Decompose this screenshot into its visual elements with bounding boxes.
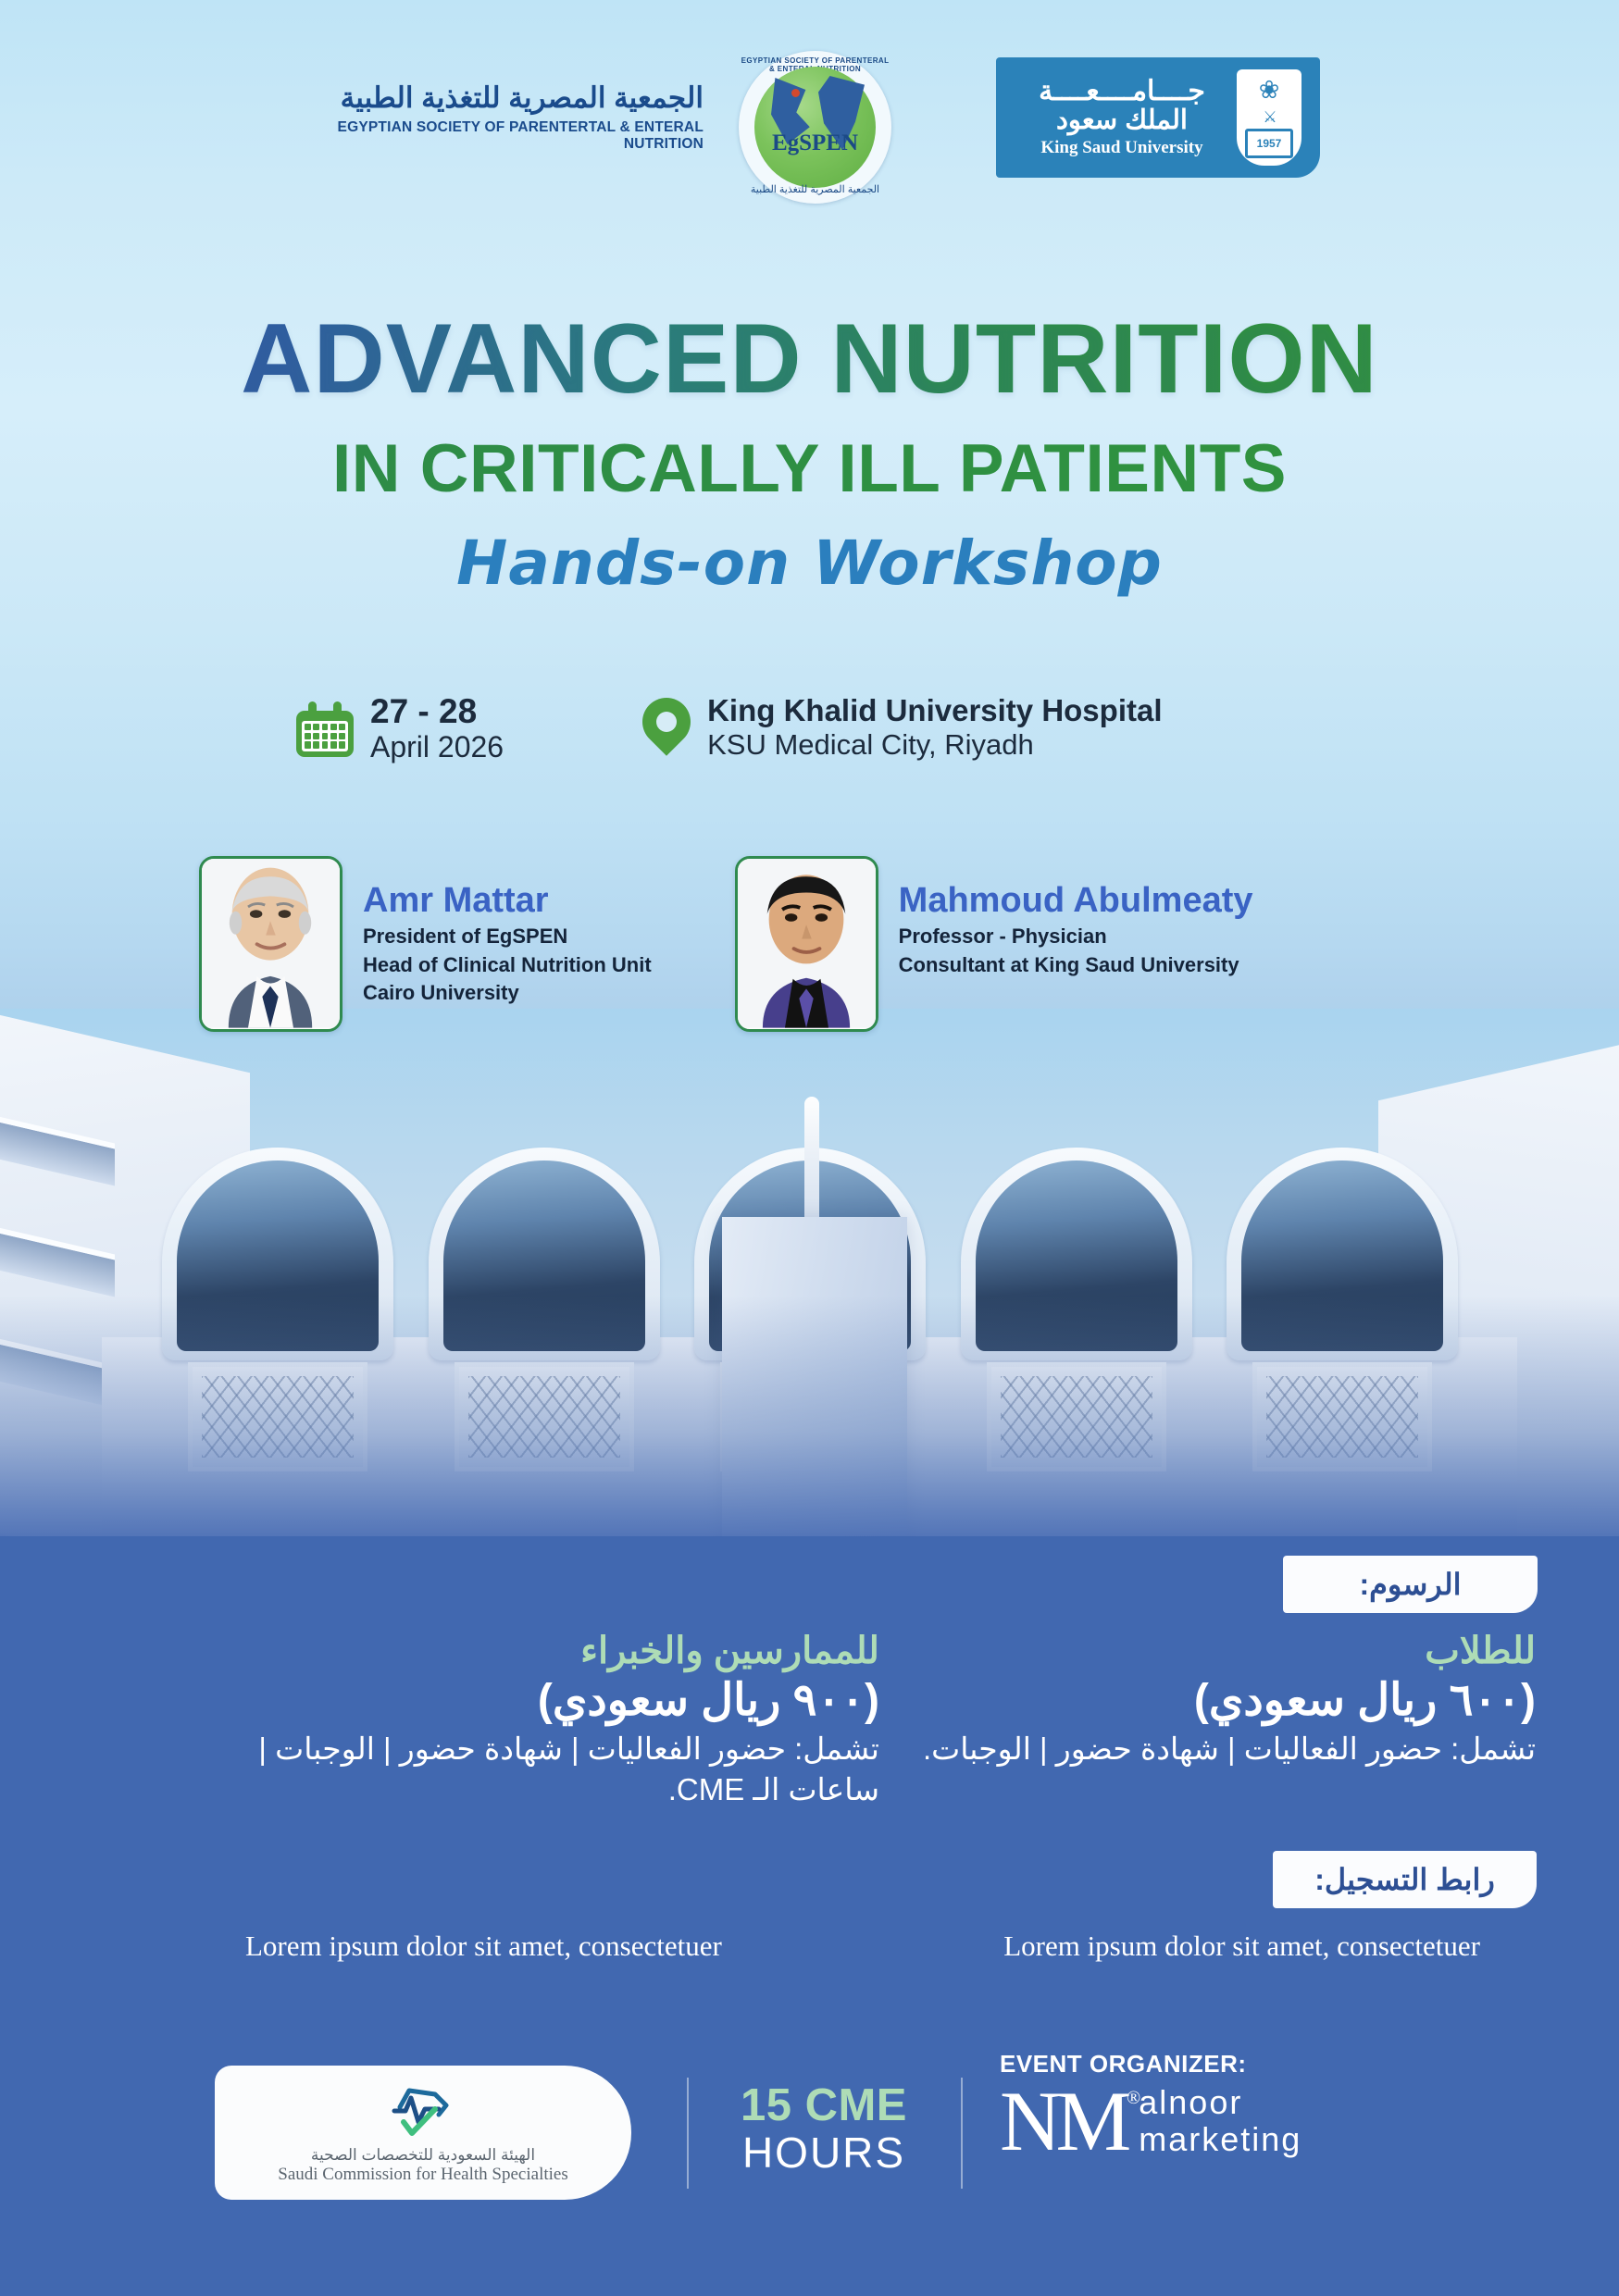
cme-credit-unit: HOURS xyxy=(704,2129,944,2177)
fees-practitioners-heading: للممارسين والخبراء xyxy=(231,1629,879,1673)
speaker-card: Mahmoud Abulmeaty Professor - Physician … xyxy=(735,856,1253,1032)
hospital-building-illustration xyxy=(0,1009,1619,1601)
speaker-photo xyxy=(199,856,342,1032)
venue-address: KSU Medical City, Riyadh xyxy=(707,727,1162,762)
registered-trademark-icon: ® xyxy=(1127,2091,1140,2105)
ksu-english-name: King Saud University xyxy=(1015,138,1229,158)
event-date-month: April 2026 xyxy=(370,730,504,764)
building-spire xyxy=(804,1097,819,1222)
location-pin-icon xyxy=(642,698,691,759)
calendar-icon xyxy=(296,701,354,757)
poster-title-secondary: IN CRITICALLY ILL PATIENTS xyxy=(0,430,1619,507)
fees-practitioners-includes: تشمل: حضور الفعاليات | شهادة حضور | الوج… xyxy=(231,1729,879,1809)
egspen-arabic-name: الجمعية المصرية للتغذية الطبية xyxy=(278,81,704,115)
speaker-portrait-icon xyxy=(202,859,340,1028)
poster-title-primary: ADVANCED NUTRITION xyxy=(0,301,1619,416)
event-poster: الجمعية المصرية للتغذية الطبية EGYPTIAN … xyxy=(0,0,1619,2296)
fees-badge: الرسوم: xyxy=(1283,1556,1538,1613)
event-venue-block: King Khalid University Hospital KSU Medi… xyxy=(642,694,1162,762)
registration-link-left[interactable]: Lorem ipsum dolor sit amet, consectetuer xyxy=(245,1930,722,1963)
speaker-card: Amr Mattar President of EgSPEN Head of C… xyxy=(199,856,652,1032)
footer-divider-right xyxy=(961,2078,963,2189)
fees-students-includes: تشمل: حضور الفعاليات | شهادة حضور | الوج… xyxy=(906,1729,1536,1769)
egspen-english-name: EGYPTIAN SOCIETY OF PARENTERTAL & ENTERA… xyxy=(278,119,704,153)
egspen-wordmark: الجمعية المصرية للتغذية الطبية EGYPTIAN … xyxy=(278,81,704,153)
organizer-name: alnoor marketing xyxy=(1139,2084,1301,2159)
egspen-logo-arabic: الجمعية المصرية للتغذية الطبية xyxy=(739,183,891,195)
event-date-block: 27 - 28 April 2026 xyxy=(296,694,504,764)
fees-section: للطلاب (٦٠٠ ريال سعودي) تشمل: حضور الفعا… xyxy=(0,1629,1619,1869)
venue-name: King Khalid University Hospital xyxy=(707,694,1162,727)
ksu-shield-year: 1957 xyxy=(1245,129,1293,158)
scfhs-pulse-icon xyxy=(381,2081,465,2142)
ksu-arabic-line1: جــــامــــعــــة xyxy=(1015,77,1229,106)
scfhs-english-name: Saudi Commission for Health Specialties xyxy=(278,2165,567,2185)
registration-link-right[interactable]: Lorem ipsum dolor sit amet, consectetuer xyxy=(1003,1930,1480,1963)
scfhs-logo-icon xyxy=(381,2081,465,2142)
speaker-name: Amr Mattar xyxy=(363,882,652,921)
egspen-logo-icon: EGYPTIAN SOCIETY OF PARENTERAL & ENTERAL… xyxy=(739,51,891,204)
speaker-role-line2: Head of Clinical Nutrition Unit xyxy=(363,952,652,978)
event-meta-row: 27 - 28 April 2026 King Khalid Universit… xyxy=(296,694,1361,764)
cme-hours-block: 15 CME HOURS xyxy=(704,2082,944,2177)
organizer-name-line2: marketing xyxy=(1139,2121,1301,2158)
scfhs-arabic-name: الهيئة السعودية للتخصصات الصحية xyxy=(311,2146,535,2165)
speaker-name: Mahmoud Abulmeaty xyxy=(899,882,1253,921)
cme-credit-value: 15 CME xyxy=(704,2082,944,2129)
fees-students-column: للطلاب (٦٠٠ ريال سعودي) تشمل: حضور الفعا… xyxy=(906,1629,1536,1769)
speaker-portrait-icon xyxy=(738,859,876,1028)
crossed-swords-icon: ⚔ xyxy=(1263,108,1275,127)
scfhs-badge: الهيئة السعودية للتخصصات الصحية Saudi Co… xyxy=(215,2066,631,2200)
event-date-day: 27 - 28 xyxy=(370,694,504,730)
speaker-role-line2: Consultant at King Saud University xyxy=(899,952,1253,978)
fees-students-price: (٦٠٠ ريال سعودي) xyxy=(906,1673,1536,1729)
footer-divider-left xyxy=(687,2078,689,2189)
organizer-monogram-text: NM xyxy=(1000,2074,1126,2168)
fees-students-heading: للطلاب xyxy=(906,1629,1536,1673)
speakers-row: Amr Mattar President of EgSPEN Head of C… xyxy=(199,856,1430,1032)
fees-practitioners-column: للممارسين والخبراء (٩٠٠ ريال سعودي) تشمل… xyxy=(231,1629,879,1809)
speaker-role-line1: President of EgSPEN xyxy=(363,924,652,949)
egspen-logo-text: EgSPEN xyxy=(739,130,891,156)
organizer-monogram-icon: NM ® xyxy=(1000,2087,1126,2156)
ksu-arabic-line2: الملك سعود xyxy=(1015,106,1229,136)
event-organizer-block: EVENT ORGANIZER: NM ® alnoor marketing xyxy=(1000,2050,1426,2159)
speaker-photo xyxy=(735,856,878,1032)
registration-link-badge[interactable]: رابط التسجيل: xyxy=(1273,1851,1537,1908)
organizer-logo: NM ® alnoor marketing xyxy=(1000,2084,1426,2159)
speaker-role-line3: Cairo University xyxy=(363,980,652,1006)
poster-title-subtitle: Hands-on Workshop xyxy=(0,527,1619,599)
palm-tree-icon: ❀ xyxy=(1259,78,1280,103)
king-saud-university-logo: جــــامــــعــــة الملك سعود King Saud U… xyxy=(996,57,1320,178)
header-logos: الجمعية المصرية للتغذية الطبية EGYPTIAN … xyxy=(0,0,1619,213)
organizer-name-line1: alnoor xyxy=(1139,2084,1301,2121)
speaker-role-line1: Professor - Physician xyxy=(899,924,1253,949)
ksu-shield-icon: ❀ ⚔ 1957 xyxy=(1237,69,1301,166)
fees-practitioners-price: (٩٠٠ ريال سعودي) xyxy=(231,1673,879,1729)
